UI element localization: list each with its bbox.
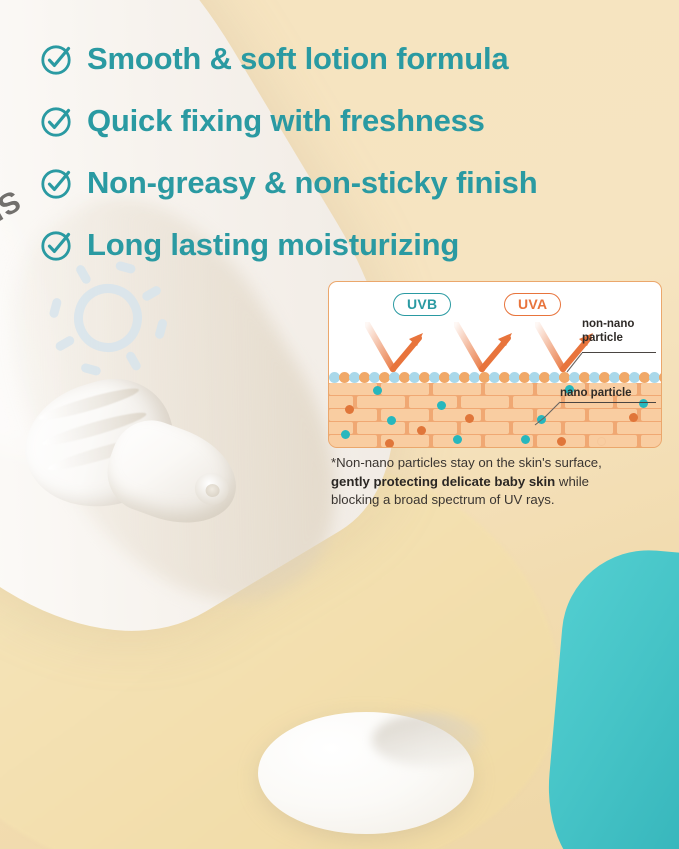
- brick: [357, 396, 405, 408]
- annotation-leader-line: [533, 401, 565, 429]
- brick: [485, 409, 533, 421]
- bottle-nozzle: [13, 370, 241, 576]
- nano-particle-dot: [385, 439, 394, 447]
- uv-ray-arrow: [365, 322, 427, 374]
- annotation-nano-particle: nano particle: [560, 386, 632, 400]
- nano-particle-dot: [639, 399, 648, 408]
- uv-protection-diagram: UVB UVA: [328, 281, 662, 448]
- brick: [329, 383, 377, 395]
- uv-ray-arrow: [454, 322, 516, 374]
- diagram-caption: *Non-nano particles stay on the skin's s…: [331, 454, 671, 510]
- brick: [461, 396, 509, 408]
- badge-uvb: UVB: [393, 293, 451, 316]
- sun-ray: [154, 318, 168, 340]
- feature-label: Non-greasy & non-sticky finish: [87, 165, 537, 201]
- feature-item: Long lasting moisturizing: [40, 214, 679, 276]
- feature-label: Long lasting moisturizing: [87, 227, 459, 263]
- nano-particle-dot: [437, 401, 446, 410]
- sun-ray: [54, 335, 76, 353]
- caption-emphasis: gently protecting delicate baby skin: [331, 474, 555, 489]
- brick: [565, 422, 613, 434]
- brick-row: [329, 422, 661, 434]
- check-circle-icon: [40, 104, 74, 138]
- nano-particle-dot: [345, 405, 354, 414]
- badge-uva: UVA: [504, 293, 561, 316]
- brick: [617, 422, 661, 434]
- nano-particle-dot: [597, 437, 606, 446]
- nano-particle-dot: [465, 414, 474, 423]
- feature-label: Quick fixing with freshness: [87, 103, 485, 139]
- annotation-underline: [582, 352, 656, 353]
- annotation-non-nano-particle: non-nano particle: [582, 317, 634, 345]
- brick-row: [329, 409, 661, 421]
- nano-particle-dot: [557, 437, 566, 446]
- caption-line-2-tail: while: [555, 474, 589, 489]
- feature-label: Smooth & soft lotion formula: [87, 41, 508, 77]
- check-circle-icon: [40, 42, 74, 76]
- brick: [641, 409, 661, 421]
- caption-line-3: blocking a broad spectrum of UV rays.: [331, 492, 555, 507]
- brick: [409, 396, 457, 408]
- brick: [485, 383, 533, 395]
- check-circle-icon: [40, 166, 74, 200]
- product-feature-graphic: SUN WATERFUL Smooth & soft lotion formul…: [0, 0, 679, 849]
- brick: [433, 383, 481, 395]
- lotion-dollop-shadow: [372, 714, 482, 766]
- brick: [641, 383, 661, 395]
- sun-ring: [62, 272, 155, 365]
- sun-ray: [125, 350, 143, 372]
- nano-particle-dot: [341, 430, 350, 439]
- nano-particle-dot: [453, 435, 462, 444]
- check-circle-icon: [40, 228, 74, 262]
- feature-item: Quick fixing with freshness: [40, 90, 679, 152]
- brick: [381, 383, 429, 395]
- nano-particle-dot: [417, 426, 426, 435]
- nano-particle-dot: [387, 416, 396, 425]
- nano-particle-dot: [521, 435, 530, 444]
- sun-ray: [141, 285, 163, 303]
- brick-row: [329, 435, 661, 447]
- nano-particle-dot: [373, 386, 382, 395]
- feature-item: Smooth & soft lotion formula: [40, 28, 679, 90]
- nano-particle-dot: [629, 413, 638, 422]
- brick: [461, 422, 509, 434]
- feature-list: Smooth & soft lotion formula Quick fixin…: [40, 28, 679, 276]
- brick: [409, 422, 457, 434]
- non-nano-particle: [659, 372, 662, 383]
- annotation-leader-line: [565, 352, 589, 374]
- brick: [329, 435, 377, 447]
- brick: [357, 422, 405, 434]
- feature-item: Non-greasy & non-sticky finish: [40, 152, 679, 214]
- annotation-underline: [560, 402, 656, 403]
- caption-line-1: *Non-nano particles stay on the skin's s…: [331, 455, 602, 470]
- sun-ray: [48, 297, 62, 319]
- brick: [641, 435, 661, 447]
